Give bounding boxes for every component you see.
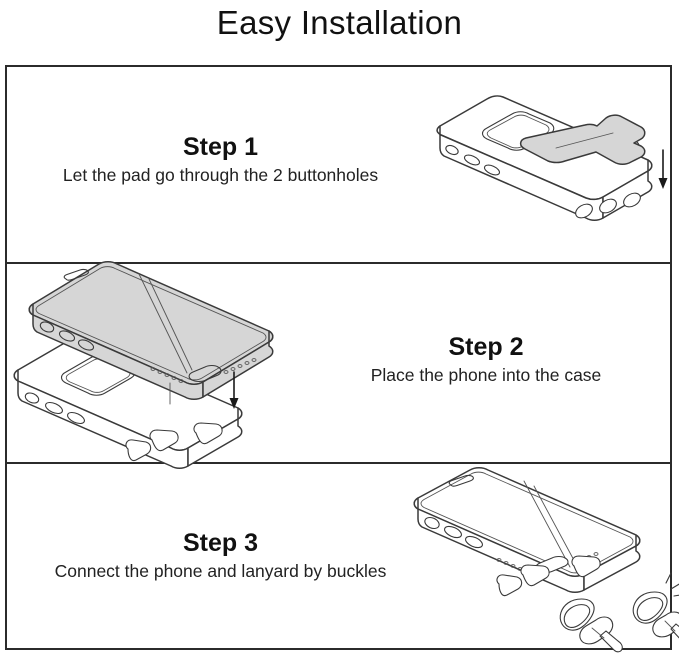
step-1-text-block: Step 1 Let the pad go through the 2 butt… [8, 132, 433, 188]
step-1-caption: Let the pad go through the 2 buttonholes [8, 162, 433, 188]
step-2-caption: Place the phone into the case [300, 362, 672, 388]
step-2-heading: Step 2 [300, 332, 672, 362]
step-3-caption: Connect the phone and lanyard by buckles [8, 558, 433, 584]
step-1-heading: Step 1 [8, 132, 433, 162]
page-title: Easy Installation [0, 2, 679, 44]
instruction-sheet: Easy Installation .ln { fill:none; strok… [0, 0, 679, 660]
panel-divider-2 [5, 462, 672, 464]
panel-divider-1 [5, 262, 672, 264]
step-3-heading: Step 3 [8, 528, 433, 558]
step-2-text-block: Step 2 Place the phone into the case [300, 332, 672, 388]
step-3-text-block: Step 3 Connect the phone and lanyard by … [8, 528, 433, 584]
